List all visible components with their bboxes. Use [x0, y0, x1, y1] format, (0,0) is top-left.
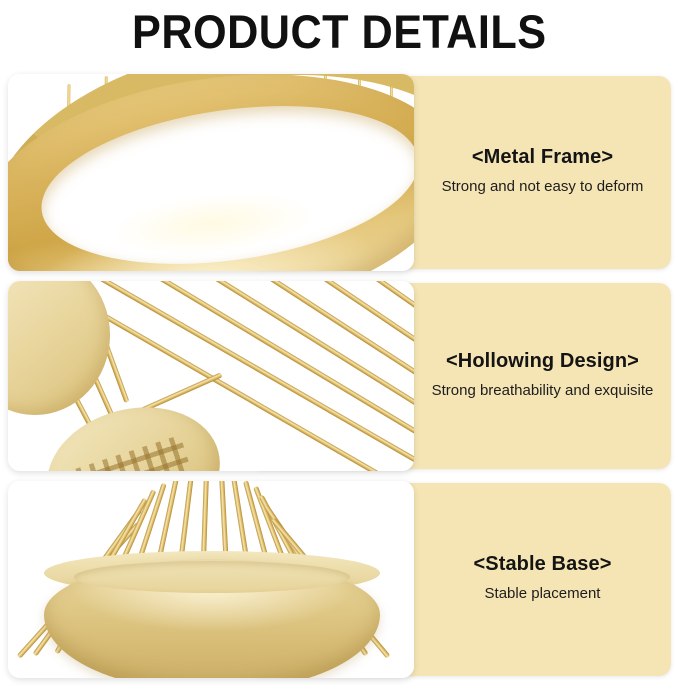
perforation-grid-icon — [75, 435, 198, 471]
page-header: PRODUCT DETAILS — [0, 0, 679, 62]
feature-heading: <Metal Frame> — [472, 146, 613, 169]
basket-rim-disc-icon — [8, 281, 110, 415]
feature-photo-card — [8, 281, 414, 471]
feature-row: <Stable Base> Stable placement — [0, 481, 679, 678]
feature-description: Strong breathability and exquisite — [432, 382, 654, 399]
feature-description: Strong and not easy to deform — [442, 178, 644, 195]
basket-bowl-inner-icon — [74, 561, 350, 593]
feature-row: <Hollowing Design> Strong breathability … — [0, 281, 679, 471]
feature-heading: <Stable Base> — [473, 553, 611, 576]
feature-text-block: <Stable Base> Stable placement — [418, 483, 667, 676]
feature-photo-card — [8, 74, 414, 271]
gold-basket-hollow-wires-closeup-photo — [8, 281, 414, 471]
feature-heading: <Hollowing Design> — [446, 350, 639, 373]
feature-description: Stable placement — [485, 585, 601, 602]
feature-text-block: <Hollowing Design> Strong breathability … — [418, 283, 667, 469]
gold-basket-base-closeup-photo — [8, 481, 414, 678]
gold-basket-rim-closeup-photo — [8, 74, 414, 271]
page-title: PRODUCT DETAILS — [132, 8, 546, 55]
product-details-page: PRODUCT DETAILS <Metal Frame> Strong and… — [0, 0, 679, 687]
feature-photo-card — [8, 481, 414, 678]
feature-row: <Metal Frame> Strong and not easy to def… — [0, 74, 679, 271]
feature-text-block: <Metal Frame> Strong and not easy to def… — [418, 76, 667, 269]
